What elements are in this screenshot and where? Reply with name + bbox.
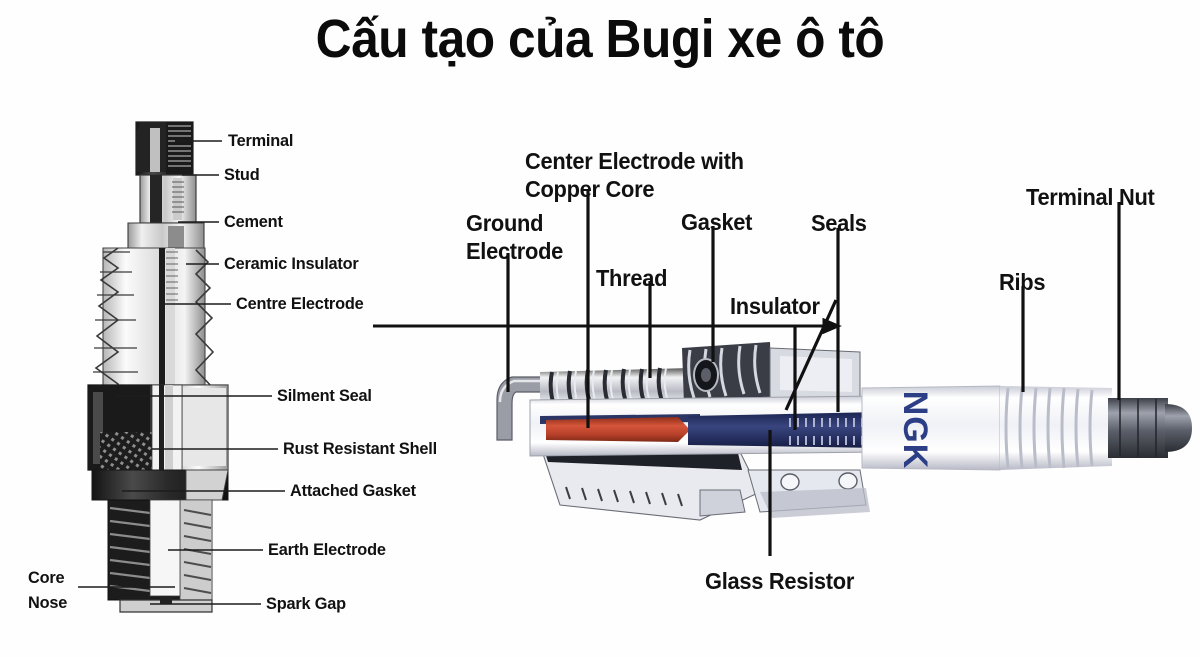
page-title: Cấu tạo của Bugi xe ô tô <box>48 8 1152 70</box>
right-plug-graphic <box>497 342 1192 520</box>
label-ribs: Ribs <box>999 269 1045 296</box>
ngk-brand-mark: NGK <box>877 395 953 465</box>
label-glass-resistor: Glass Resistor <box>705 568 854 595</box>
label-core-nose-line2: Nose <box>28 593 67 613</box>
label-attached-gasket: Attached Gasket <box>290 481 416 501</box>
label-ceramic-insulator: Ceramic Insulator <box>224 254 359 274</box>
left-leader-lines <box>78 141 285 604</box>
label-terminal-nut: Terminal Nut <box>1026 184 1155 211</box>
label-stud: Stud <box>224 165 259 185</box>
label-terminal: Terminal <box>228 131 293 151</box>
label-rust-resistant-shell: Rust Resistant Shell <box>283 439 437 459</box>
label-centre-electrode: Centre Electrode <box>236 294 364 314</box>
label-spark-gap: Spark Gap <box>266 594 346 614</box>
label-insulator: Insulator <box>730 293 820 320</box>
label-ground-electrode-line1: Ground <box>466 210 543 237</box>
right-leader-lines <box>508 190 1119 556</box>
label-cement: Cement <box>224 212 283 232</box>
label-center-electrode-copper-core-line2: Copper Core <box>525 176 654 203</box>
label-core-nose-line1: Core <box>28 568 64 588</box>
left-plug-graphic <box>88 122 228 612</box>
diagram-page: Cấu tạo của Bugi xe ô tô <box>0 0 1200 657</box>
label-earth-electrode: Earth Electrode <box>268 540 386 560</box>
label-gasket: Gasket <box>681 209 752 236</box>
label-seals: Seals <box>811 210 867 237</box>
label-silment-seal: Silment Seal <box>277 386 372 406</box>
insulator-arrow <box>373 320 838 332</box>
left-plug-illustration <box>0 0 1200 657</box>
label-ground-electrode-line2: Electrode <box>466 238 563 265</box>
label-center-electrode-copper-core-line1: Center Electrode with <box>525 148 744 175</box>
label-thread: Thread <box>596 265 667 292</box>
